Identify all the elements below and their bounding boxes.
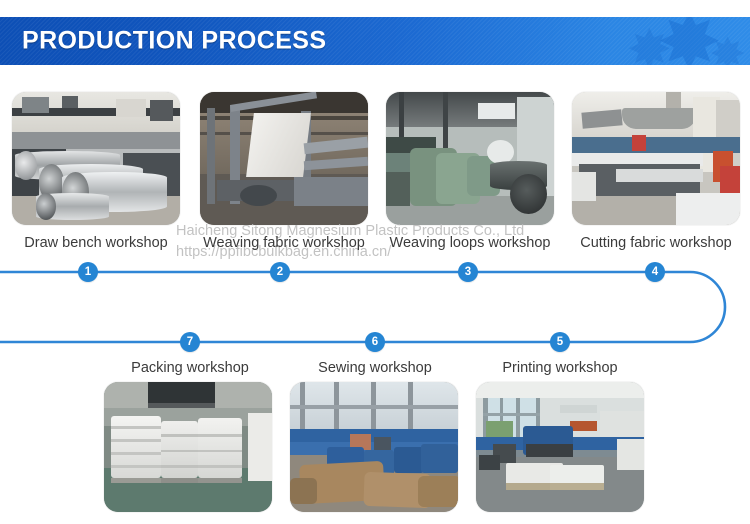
flow-node-4[interactable]: 4 xyxy=(645,262,665,282)
caption-step-3: Weaving loops workshop xyxy=(386,235,554,251)
caption-step-5: Printing workshop xyxy=(476,360,644,376)
flow-node-6[interactable]: 6 xyxy=(365,332,385,352)
caption-step-4: Cutting fabric workshop xyxy=(572,235,740,251)
draw-bench-workshop-photo[interactable] xyxy=(12,92,180,225)
cutting-fabric-workshop-photo[interactable] xyxy=(572,92,740,225)
caption-step-6: Sewing workshop xyxy=(291,360,459,376)
flow-node-3[interactable]: 3 xyxy=(458,262,478,282)
flow-node-1[interactable]: 1 xyxy=(78,262,98,282)
weaving-fabric-workshop-photo[interactable] xyxy=(200,92,368,225)
flow-path xyxy=(0,272,725,342)
star-icon: ✸ xyxy=(709,33,746,65)
production-process-infographic: ✸ ✸ ✸ PRODUCTION PROCESS xyxy=(0,0,750,524)
flow-node-7[interactable]: 7 xyxy=(180,332,200,352)
weaving-loops-workshop-photo[interactable] xyxy=(386,92,554,225)
flow-node-2[interactable]: 2 xyxy=(270,262,290,282)
packing-workshop-photo[interactable] xyxy=(104,382,272,512)
sewing-workshop-photo[interactable] xyxy=(290,382,458,512)
page-title: PRODUCTION PROCESS xyxy=(22,27,326,56)
header-banner: ✸ ✸ ✸ PRODUCTION PROCESS xyxy=(0,17,750,65)
caption-step-2: Weaving fabric workshop xyxy=(200,235,368,251)
printing-workshop-photo[interactable] xyxy=(476,382,644,512)
caption-step-7: Packing workshop xyxy=(106,360,274,376)
caption-step-1: Draw bench workshop xyxy=(12,235,180,251)
star-icon: ✸ xyxy=(627,23,672,65)
flow-node-5[interactable]: 5 xyxy=(550,332,570,352)
